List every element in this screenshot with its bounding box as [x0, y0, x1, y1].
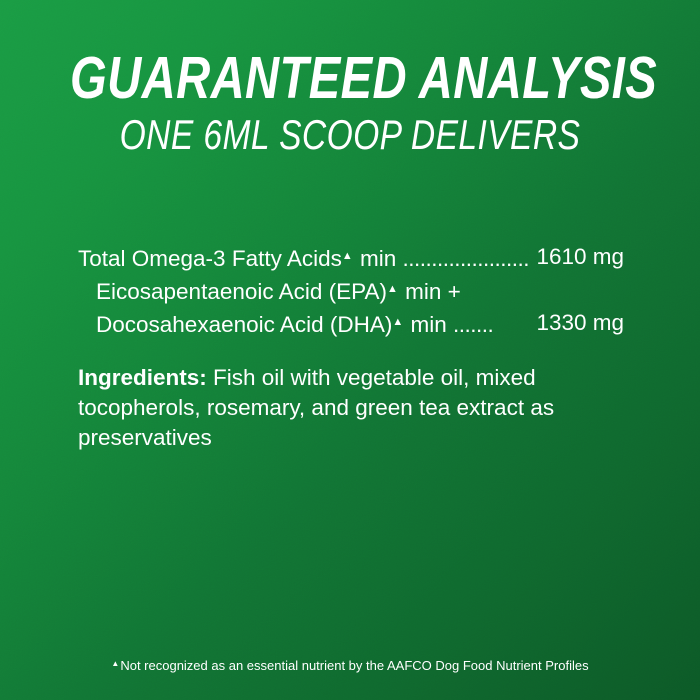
analysis-row-label: Total Omega-3 Fatty Acids [78, 246, 342, 271]
footnote: ▲Not recognized as an essential nutrient… [0, 655, 700, 674]
analysis-row-label: Docosahexaenoic Acid (DHA) [96, 312, 392, 337]
analysis-row-qualifier: min [354, 246, 403, 271]
analysis-row: Eicosapentaenoic Acid (EPA)▲ min + [78, 273, 624, 306]
analysis-row-leader: ...................... [403, 246, 530, 271]
ingredients-label: Ingredients: [78, 365, 207, 390]
analysis-list: Total Omega-3 Fatty Acids▲ min .........… [78, 240, 624, 339]
analysis-row-qualifier: min + [399, 279, 461, 304]
analysis-row-label: Eicosapentaenoic Acid (EPA) [96, 279, 387, 304]
header: GUARANTEED ANALYSIS ONE 6ML SCOOP DELIVE… [0, 48, 700, 158]
page-subtitle: ONE 6ML SCOOP DELIVERS [70, 112, 630, 158]
page-title: GUARANTEED ANALYSIS [70, 48, 630, 108]
analysis-row-leader: ....... [453, 312, 493, 337]
analysis-row-qualifier: min [404, 312, 453, 337]
analysis-row: Docosahexaenoic Acid (DHA)▲ min ....... … [78, 306, 624, 339]
footnote-text: Not recognized as an essential nutrient … [120, 658, 588, 673]
ingredients-block: Ingredients: Fish oil with vegetable oil… [78, 363, 630, 453]
analysis-row: Total Omega-3 Fatty Acids▲ min .........… [78, 240, 624, 273]
footnote-marker-triangle-icon: ▲ [387, 283, 398, 295]
guaranteed-analysis-panel: GUARANTEED ANALYSIS ONE 6ML SCOOP DELIVE… [0, 0, 700, 700]
analysis-row-amount: 1330 mg [536, 306, 624, 339]
analysis-row-amount: 1610 mg [536, 240, 624, 273]
footnote-marker-triangle-icon: ▲ [342, 250, 353, 262]
footnote-marker-triangle-icon: ▲ [111, 659, 119, 668]
footnote-marker-triangle-icon: ▲ [392, 316, 403, 328]
